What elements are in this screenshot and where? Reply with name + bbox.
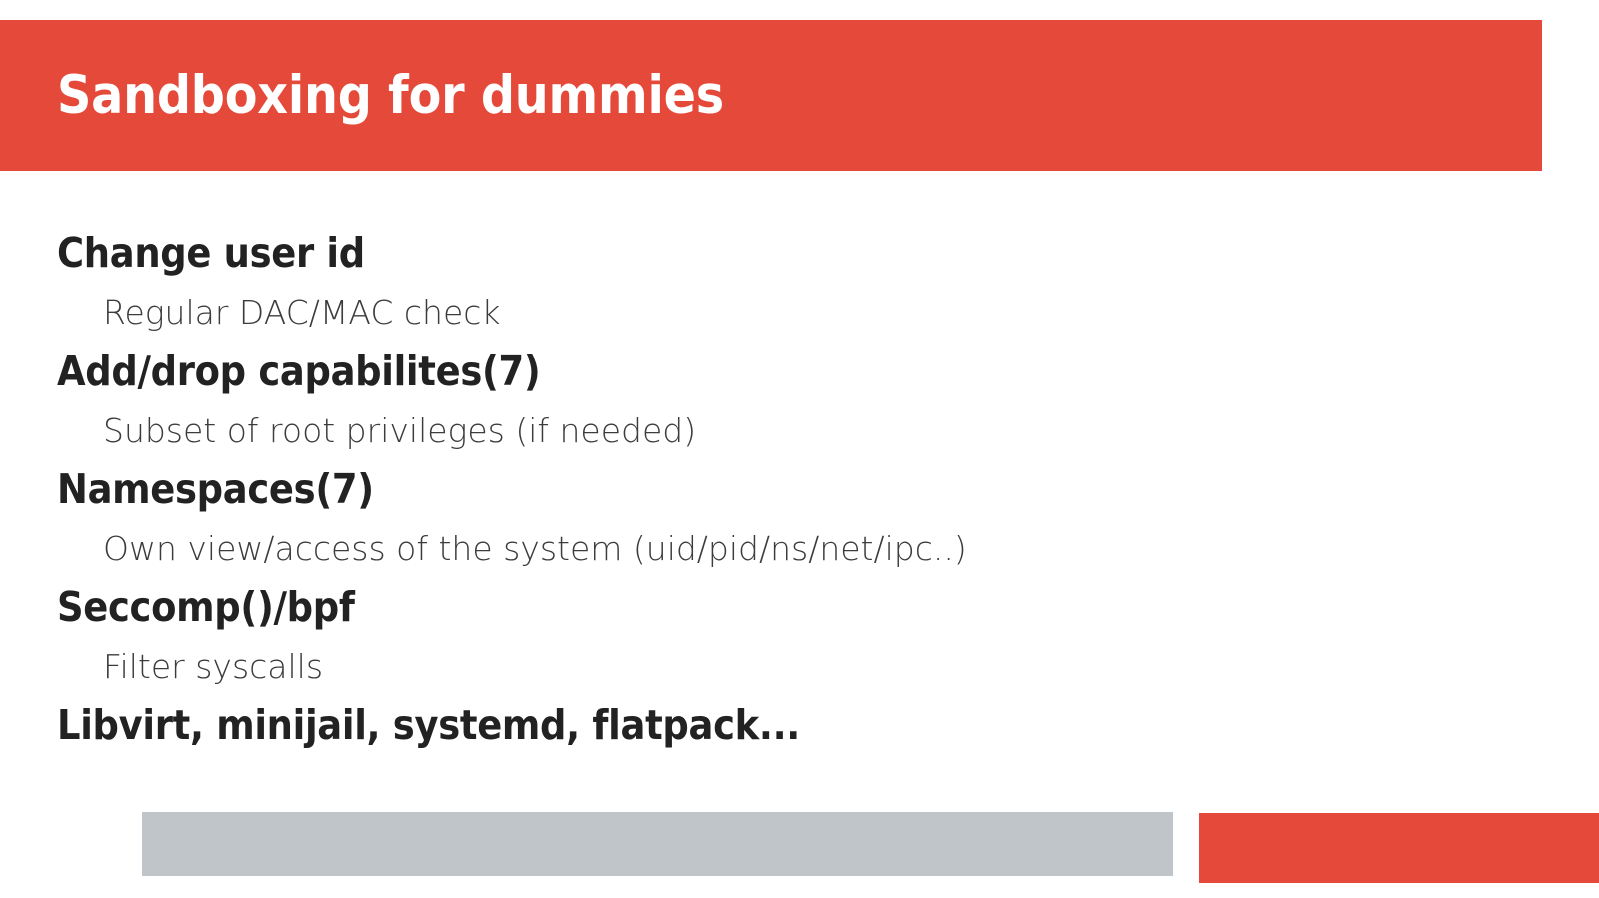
bullet-heading: Namespaces(7) — [0, 460, 1599, 519]
bullet-item-4: Seccomp()/bpf Filter syscalls — [0, 578, 1599, 696]
title-banner: Sandboxing for dummies — [0, 20, 1542, 171]
bullet-item-5: Libvirt, minijail, systemd, flatpack... — [0, 696, 1599, 755]
slide-canvas: Sandboxing for dummies Change user id Re… — [0, 0, 1599, 898]
bullet-heading: Seccomp()/bpf — [0, 578, 1599, 637]
footer-bar-red — [1199, 813, 1599, 883]
bullet-item-1: Change user id Regular DAC/MAC check — [0, 224, 1599, 342]
bullet-heading: Add/drop capabilites(7) — [0, 342, 1599, 401]
bullet-item-3: Namespaces(7) Own view/access of the sys… — [0, 460, 1599, 578]
page-title: Sandboxing for dummies — [57, 68, 724, 124]
bullet-detail: Filter syscalls — [0, 637, 1599, 696]
bullet-detail: Subset of root privileges (if needed) — [0, 401, 1599, 460]
bullet-heading: Libvirt, minijail, systemd, flatpack... — [0, 696, 1599, 755]
bullet-detail: Regular DAC/MAC check — [0, 283, 1599, 342]
bullet-heading: Change user id — [0, 224, 1599, 283]
footer-bar-gray — [142, 812, 1173, 876]
bullet-item-2: Add/drop capabilites(7) Subset of root p… — [0, 342, 1599, 460]
bullet-detail: Own view/access of the system (uid/pid/n… — [0, 519, 1599, 578]
bullet-list: Change user id Regular DAC/MAC check Add… — [0, 224, 1599, 755]
